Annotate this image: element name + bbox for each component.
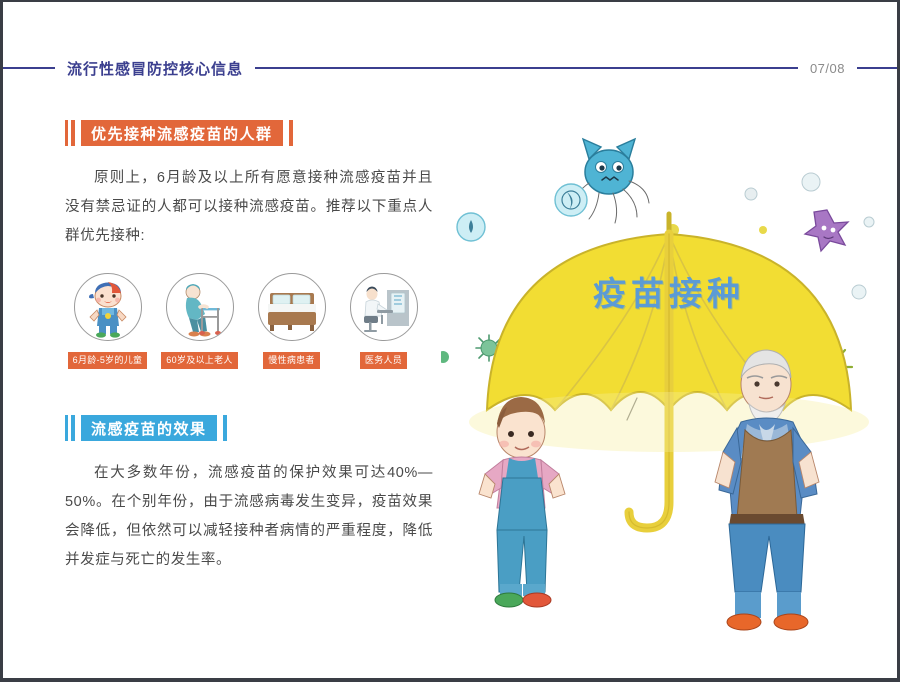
priority-groups-list: 6月龄-5岁的儿童 (65, 273, 433, 369)
medical-staff-icon (350, 273, 418, 341)
elderly-walker-icon (166, 273, 234, 341)
header-rule-middle (255, 67, 798, 69)
section-heading-label: 优先接种流感疫苗的人群 (91, 123, 273, 144)
header-rule-left (3, 67, 55, 69)
page-number: 07/08 (798, 61, 857, 76)
illustration-drawing (441, 122, 893, 642)
infographic-page: 流行性感冒防控核心信息 07/08 优先接种流感疫苗的人群 原则上，6月龄及以上… (0, 0, 900, 682)
header-rule-right (857, 67, 897, 69)
heading-bars-left-icon (65, 120, 75, 146)
section-heading-label: 流感疫苗的效果 (91, 418, 207, 439)
child-icon (74, 273, 142, 341)
umbrella-label: 疫苗接种 (593, 267, 745, 315)
section-paragraph-priority-groups: 原则上，6月龄及以上所有愿意接种流感疫苗并且没有禁忌证的人都可以接种流感疫苗。推… (65, 164, 433, 251)
list-item: 6月龄-5岁的儿童 (65, 273, 150, 369)
heading-band: 优先接种流感疫苗的人群 (81, 120, 283, 146)
list-item: 慢性病患者 (249, 273, 334, 369)
priority-group-label: 6月龄-5岁的儿童 (68, 352, 148, 369)
section-heading-vaccine-effect: 流感疫苗的效果 (65, 415, 433, 441)
priority-group-label: 慢性病患者 (263, 352, 320, 369)
content-column: 优先接种流感疫苗的人群 原则上，6月龄及以上所有愿意接种流感疫苗并且没有禁忌证的… (65, 120, 433, 575)
vaccination-illustration: 疫苗接种 (441, 122, 893, 642)
list-item: 60岁及以上老人 (157, 273, 242, 369)
heading-band: 流感疫苗的效果 (81, 415, 217, 441)
circle-germ-icon (457, 184, 587, 241)
heading-bars-right-icon (289, 120, 293, 146)
priority-group-label: 医务人员 (360, 352, 407, 369)
bed-icon (258, 273, 326, 341)
page-title: 流行性感冒防控核心信息 (55, 58, 255, 79)
list-item: 医务人员 (341, 273, 426, 369)
section-paragraph-vaccine-effect: 在大多数年份，流感疫苗的保护效果可达40%—50%。在个别年份，由于流感病毒发生… (65, 459, 433, 575)
heading-bars-left-icon (65, 415, 75, 441)
priority-group-label: 60岁及以上老人 (161, 352, 237, 369)
heading-bars-right-icon (223, 415, 227, 441)
section-heading-priority-groups: 优先接种流感疫苗的人群 (65, 120, 433, 146)
page-header: 流行性感冒防控核心信息 07/08 (3, 60, 897, 76)
